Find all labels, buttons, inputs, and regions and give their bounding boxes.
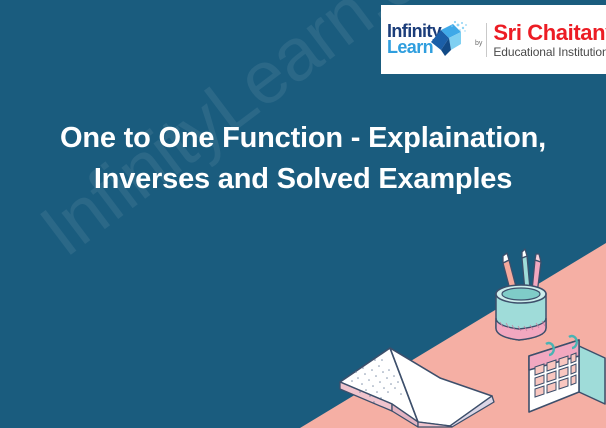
banner-title: One to One Function - Explaination, Inve… bbox=[0, 118, 606, 200]
banner-title-line-2: Inverses and Solved Examples bbox=[8, 159, 598, 200]
logo-inner: Infinity Learn by bbox=[381, 16, 606, 64]
banner-title-line-1: One to One Function - Explaination, bbox=[8, 118, 598, 159]
open-book-icon bbox=[332, 326, 498, 428]
logo-connector-text: by bbox=[475, 32, 482, 47]
infinity-learn-logo: Infinity Learn bbox=[387, 16, 473, 64]
desk-calendar-icon bbox=[525, 328, 606, 424]
logo-divider bbox=[486, 23, 487, 57]
partner-subtitle-text: Educational Institutions bbox=[493, 46, 606, 58]
partner-logo: Sri Chaitanya Educational Institutions bbox=[493, 22, 606, 58]
partner-name-text: Sri Chaitanya bbox=[493, 22, 606, 44]
infinity-arrow-icon bbox=[427, 20, 469, 62]
article-banner: InfinityLearn.com Infinity Learn bbox=[0, 0, 606, 428]
brand-logo-panel: Infinity Learn by bbox=[381, 5, 606, 74]
